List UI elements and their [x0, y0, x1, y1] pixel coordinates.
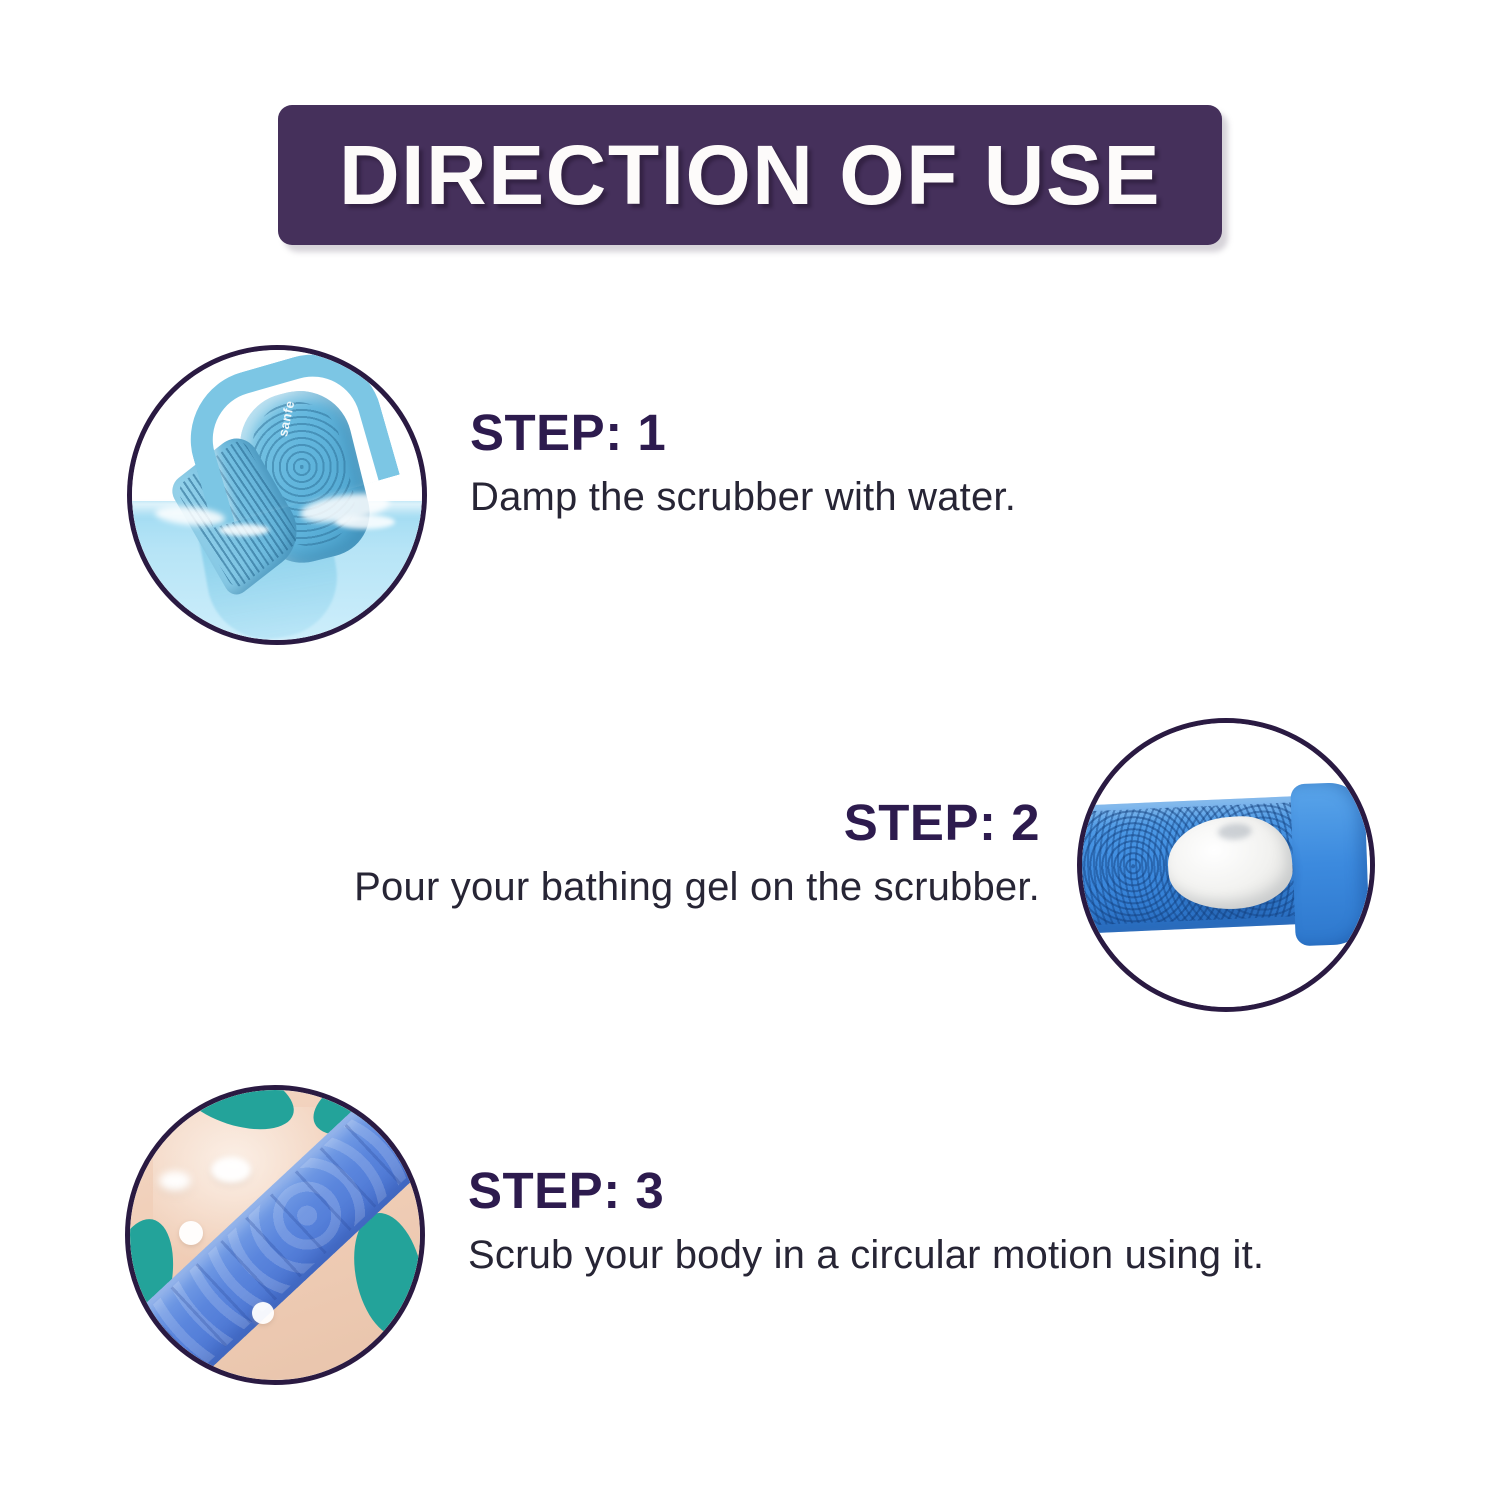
soap-foam: [252, 1302, 274, 1324]
scrubber-in-water-scene: sanfe: [132, 350, 422, 640]
step-description-2: Pour your bathing gel on the scrubber.: [200, 862, 1040, 912]
page-title: DIRECTION OF USE: [339, 133, 1161, 217]
step-row-2: STEP: 2 Pour your bathing gel on the scr…: [0, 715, 1500, 1015]
step-description-1: Damp the scrubber with water.: [470, 472, 1250, 522]
water-splash: [219, 524, 269, 536]
header-banner: DIRECTION OF USE: [278, 105, 1222, 245]
step-heading-1: STEP: 1: [470, 405, 1250, 460]
step-text-2: STEP: 2 Pour your bathing gel on the scr…: [200, 795, 1040, 912]
soap-foam: [211, 1157, 251, 1183]
scrubber-in-water-photo: sanfe: [127, 345, 427, 645]
step-description-3: Scrub your body in a circular motion usi…: [468, 1230, 1428, 1280]
step-row-3: STEP: 3 Scrub your body in a circular mo…: [0, 1085, 1500, 1390]
soap-foam: [179, 1221, 203, 1245]
step-row-1: sanfe STEP: 1 Damp the scrubber with wat…: [0, 345, 1500, 655]
step-heading-2: STEP: 2: [200, 795, 1040, 850]
scrubbing-body-photo: [125, 1085, 425, 1385]
step-text-3: STEP: 3 Scrub your body in a circular mo…: [468, 1163, 1428, 1280]
scrubber-with-gel-photo: [1077, 718, 1375, 1012]
infographic-page: DIRECTION OF USE sanfe STEP: 1: [0, 0, 1500, 1500]
step-heading-3: STEP: 3: [468, 1163, 1428, 1218]
scrubber-with-gel-scene: [1082, 723, 1370, 1007]
scrubbing-body-scene: [130, 1090, 420, 1380]
step-text-1: STEP: 1 Damp the scrubber with water.: [470, 405, 1250, 522]
strap-handle-knob: [1290, 781, 1370, 945]
